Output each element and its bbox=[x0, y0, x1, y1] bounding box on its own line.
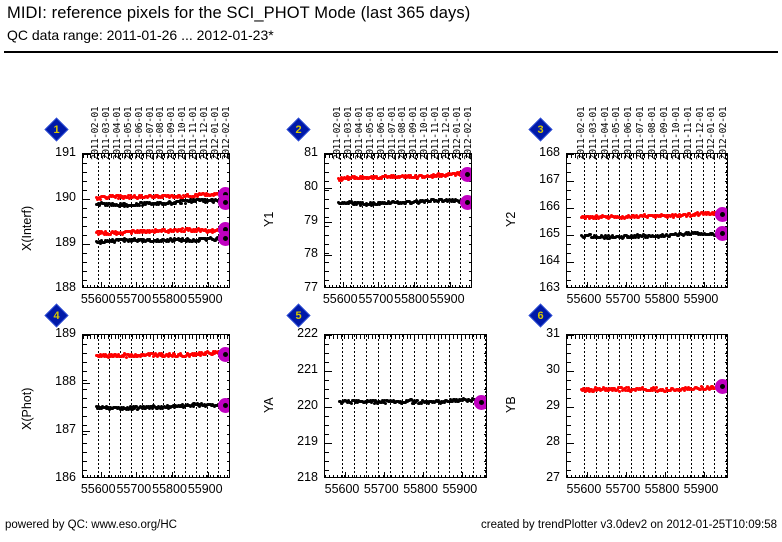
date-tick-label: 2011-08-01 bbox=[647, 107, 658, 160]
axis-tick-minor-y bbox=[725, 407, 728, 408]
axis-tick-minor bbox=[714, 285, 715, 288]
axis-tick-minor-y bbox=[484, 380, 487, 381]
axis-tick-minor bbox=[422, 335, 423, 339]
axis-tick-minor bbox=[164, 335, 165, 339]
x-axis-tick-label: 55900 bbox=[442, 482, 477, 496]
axis-tick-minor bbox=[357, 285, 358, 288]
axis-tick-minor-y bbox=[83, 190, 87, 191]
axis-tick-minor bbox=[199, 475, 200, 478]
axis-tick-minor bbox=[125, 335, 126, 339]
axis-tick-minor bbox=[111, 285, 112, 288]
axis-tick-minor-y bbox=[227, 380, 230, 381]
axis-tick-minor bbox=[434, 285, 435, 288]
axis-tick-minor-y bbox=[83, 398, 87, 399]
latest-point-core bbox=[720, 212, 725, 217]
axis-tick-minor bbox=[633, 285, 634, 288]
axis-tick-minor bbox=[344, 335, 345, 339]
y-axis-tick-label: 29 bbox=[518, 398, 560, 412]
panel-badge-2: 2 bbox=[288, 119, 309, 140]
y-axis-tick-major bbox=[567, 208, 574, 209]
axis-tick-minor bbox=[476, 335, 477, 339]
axis-tick-minor bbox=[690, 335, 691, 339]
date-tick-label: 2011-11-01 bbox=[188, 107, 199, 160]
date-tick-label: 2011-06-01 bbox=[623, 107, 634, 160]
axis-tick-minor bbox=[388, 285, 389, 288]
gridline-month bbox=[714, 154, 715, 288]
axis-tick-minor bbox=[671, 475, 672, 478]
axis-tick-minor bbox=[118, 285, 119, 288]
axis-tick-minor-y bbox=[725, 470, 728, 471]
axis-tick-minor bbox=[594, 335, 595, 339]
gridline-month bbox=[449, 335, 450, 478]
axis-tick-minor bbox=[725, 285, 726, 288]
axis-tick-minor bbox=[161, 285, 162, 288]
axis-tick-minor-y bbox=[725, 181, 728, 182]
axis-tick-minor bbox=[621, 285, 622, 288]
axis-tick-minor bbox=[337, 475, 338, 478]
x-axis-tick-label: 55800 bbox=[152, 292, 187, 306]
axis-tick-minor bbox=[579, 335, 580, 339]
axis-tick-minor-y bbox=[567, 416, 571, 417]
axis-tick-minor bbox=[706, 335, 707, 339]
date-tick-label: 2012-02-01 bbox=[221, 107, 232, 160]
axis-tick-minor bbox=[457, 335, 458, 339]
gridline-month bbox=[584, 154, 585, 288]
axis-tick-minor bbox=[164, 475, 165, 478]
gridline-month bbox=[373, 154, 374, 288]
axis-tick-minor-y bbox=[725, 416, 728, 417]
axis-tick-minor bbox=[606, 335, 607, 339]
axis-tick-minor bbox=[227, 475, 228, 478]
axis-tick-minor-y bbox=[567, 190, 571, 191]
axis-tick-minor-y bbox=[227, 416, 230, 417]
axis-tick-minor bbox=[97, 335, 98, 339]
latest-point-marker bbox=[218, 195, 230, 210]
y-axis-tick-label: 189 bbox=[34, 326, 76, 340]
y-axis-title: Y1 bbox=[262, 212, 276, 227]
axis-tick-minor bbox=[710, 475, 711, 478]
axis-tick-minor bbox=[472, 475, 473, 478]
axis-tick-minor bbox=[372, 335, 373, 339]
axis-tick-minor bbox=[582, 335, 583, 339]
axis-tick-minor-y bbox=[725, 280, 728, 281]
axis-tick-minor-y bbox=[83, 262, 87, 263]
axis-tick-minor bbox=[132, 285, 133, 288]
axis-tick-minor-y bbox=[325, 163, 329, 164]
axis-tick-minor-y bbox=[484, 425, 487, 426]
axis-tick-minor bbox=[462, 285, 463, 288]
axis-tick-minor-y bbox=[83, 344, 87, 345]
axis-tick-minor bbox=[410, 335, 411, 339]
axis-tick-minor bbox=[161, 475, 162, 478]
axis-tick-minor bbox=[227, 285, 228, 288]
axis-tick-minor-y bbox=[567, 280, 571, 281]
axis-tick-minor bbox=[717, 475, 718, 478]
axis-tick-minor-y bbox=[227, 217, 230, 218]
gridline-month bbox=[378, 335, 379, 478]
axis-tick-minor bbox=[168, 335, 169, 339]
axis-tick-minor-y bbox=[227, 425, 230, 426]
axis-tick-minor-y bbox=[567, 244, 571, 245]
axis-tick-minor-y bbox=[325, 353, 329, 354]
x-axis-tick-label: 55700 bbox=[358, 292, 393, 306]
axis-tick-minor bbox=[567, 285, 568, 288]
axis-tick-minor bbox=[671, 285, 672, 288]
axis-tick-minor bbox=[399, 335, 400, 339]
latest-point-marker bbox=[218, 231, 230, 246]
gridline-month bbox=[229, 154, 230, 288]
y-axis-tick-major bbox=[325, 222, 332, 223]
y-axis-tick-label: 165 bbox=[518, 226, 560, 240]
axis-tick-minor bbox=[391, 475, 392, 478]
latest-point-marker bbox=[715, 207, 728, 222]
axis-tick-minor-y bbox=[83, 389, 87, 390]
axis-tick-minor bbox=[629, 475, 630, 478]
x-axis-tick-major bbox=[136, 282, 137, 288]
axis-tick-minor bbox=[582, 475, 583, 478]
axis-tick-minor-y bbox=[325, 344, 329, 345]
axis-tick-minor bbox=[663, 285, 664, 288]
axis-tick-minor-y bbox=[325, 253, 329, 254]
gridline-month bbox=[98, 154, 99, 288]
axis-tick-minor bbox=[206, 285, 207, 288]
page-subtitle: QC data range: 2011-01-26 ... 2012-01-23… bbox=[7, 27, 274, 43]
axis-tick-minor bbox=[161, 335, 162, 339]
gridline-month bbox=[619, 154, 620, 288]
y-axis-tick-label: 79 bbox=[276, 213, 318, 227]
axis-tick-minor bbox=[189, 285, 190, 288]
panel-badge-number: 6 bbox=[530, 305, 551, 326]
gridline-month bbox=[185, 154, 186, 288]
gridline-month bbox=[390, 335, 391, 478]
axis-tick-minor bbox=[168, 285, 169, 288]
axis-tick-minor-y bbox=[325, 235, 329, 236]
x-axis-tick-major bbox=[587, 472, 588, 478]
y-axis-tick-major bbox=[567, 262, 574, 263]
axis-tick-minor bbox=[663, 335, 664, 339]
axis-tick-minor-y bbox=[484, 461, 487, 462]
y-axis-title: X(Phot) bbox=[20, 387, 34, 429]
axis-tick-minor bbox=[108, 475, 109, 478]
gridline-month bbox=[703, 335, 704, 478]
latest-point-core bbox=[223, 200, 228, 205]
axis-tick-minor bbox=[579, 285, 580, 288]
axis-tick-minor bbox=[395, 475, 396, 478]
axis-tick-minor bbox=[702, 335, 703, 339]
axis-tick-minor bbox=[332, 285, 333, 288]
axis-tick-minor bbox=[675, 475, 676, 478]
axis-tick-minor bbox=[157, 335, 158, 339]
axis-tick-minor bbox=[465, 475, 466, 478]
axis-tick-minor bbox=[132, 335, 133, 339]
axis-tick-minor-y bbox=[469, 163, 472, 164]
axis-tick-minor bbox=[694, 335, 695, 339]
axis-tick-minor bbox=[192, 335, 193, 339]
axis-tick-minor-y bbox=[325, 244, 329, 245]
axis-tick-minor-y bbox=[469, 253, 472, 254]
latest-point-core bbox=[223, 352, 228, 357]
axis-tick-minor bbox=[702, 475, 703, 478]
axis-tick-minor bbox=[598, 475, 599, 478]
latest-point-marker bbox=[218, 398, 230, 413]
x-axis-tick-label: 55900 bbox=[684, 292, 719, 306]
y-axis-tick-label: 164 bbox=[518, 253, 560, 267]
y-axis-tick-label: 168 bbox=[518, 145, 560, 159]
axis-tick-minor-y bbox=[567, 362, 571, 363]
axis-tick-minor bbox=[339, 285, 340, 288]
axis-tick-minor-y bbox=[484, 452, 487, 453]
axis-tick-minor bbox=[115, 335, 116, 339]
axis-tick-minor bbox=[426, 335, 427, 339]
gridline-month bbox=[109, 154, 110, 288]
gridline-month bbox=[402, 335, 403, 478]
axis-tick-minor bbox=[217, 335, 218, 339]
axis-tick-minor bbox=[399, 285, 400, 288]
axis-tick-minor-y bbox=[325, 280, 329, 281]
date-tick-label: 2011-02-01 bbox=[576, 107, 587, 160]
axis-tick-minor bbox=[337, 335, 338, 339]
axis-tick-minor-y bbox=[83, 226, 87, 227]
axis-tick-minor-y bbox=[725, 271, 728, 272]
axis-tick-minor bbox=[360, 335, 361, 339]
axis-tick-minor-y bbox=[325, 398, 329, 399]
axis-tick-minor-y bbox=[227, 434, 230, 435]
date-tick-label: 2011-12-01 bbox=[441, 107, 452, 160]
date-tick-label: 2012-02-01 bbox=[718, 107, 729, 160]
axis-tick-minor-y bbox=[83, 443, 87, 444]
axis-tick-minor bbox=[374, 285, 375, 288]
axis-tick-minor bbox=[469, 285, 470, 288]
axis-tick-minor bbox=[392, 285, 393, 288]
axis-tick-minor bbox=[224, 285, 225, 288]
axis-tick-minor bbox=[146, 335, 147, 339]
axis-tick-minor bbox=[139, 285, 140, 288]
axis-tick-minor-y bbox=[484, 470, 487, 471]
axis-tick-minor-y bbox=[484, 362, 487, 363]
y-axis-tick-label: 218 bbox=[276, 470, 318, 484]
axis-tick-minor bbox=[196, 335, 197, 339]
panel-badge-6: 6 bbox=[530, 305, 551, 326]
axis-tick-minor bbox=[567, 475, 568, 478]
axis-tick-minor bbox=[329, 475, 330, 478]
axis-tick-minor bbox=[449, 335, 450, 339]
axis-tick-minor bbox=[434, 475, 435, 478]
y-axis-tick-label: 190 bbox=[34, 190, 76, 204]
axis-tick-minor-y bbox=[325, 416, 329, 417]
axis-tick-minor-y bbox=[725, 344, 728, 345]
axis-tick-minor bbox=[410, 475, 411, 478]
x-axis-tick-major bbox=[101, 472, 102, 478]
date-tick-label: 2011-11-01 bbox=[683, 107, 694, 160]
axis-tick-minor-y bbox=[83, 181, 87, 182]
axis-tick-minor bbox=[403, 285, 404, 288]
x-axis-tick-label: 55600 bbox=[325, 482, 360, 496]
axis-tick-minor bbox=[122, 475, 123, 478]
plot-panel-4 bbox=[82, 334, 230, 478]
axis-tick-minor-y bbox=[469, 217, 472, 218]
axis-tick-minor-y bbox=[83, 461, 87, 462]
axis-tick-minor-y bbox=[83, 280, 87, 281]
axis-tick-minor bbox=[129, 335, 130, 339]
axis-tick-minor bbox=[111, 475, 112, 478]
axis-tick-minor bbox=[636, 335, 637, 339]
latest-point-marker bbox=[474, 395, 487, 410]
axis-tick-minor-y bbox=[83, 271, 87, 272]
axis-tick-minor bbox=[379, 475, 380, 478]
date-tick-label: 2011-05-01 bbox=[123, 107, 134, 160]
plot-panel-2 bbox=[324, 153, 472, 288]
gridline-month bbox=[667, 335, 668, 478]
axis-tick-minor bbox=[391, 335, 392, 339]
axis-tick-minor bbox=[210, 285, 211, 288]
gridline-month bbox=[691, 335, 692, 478]
axis-tick-minor bbox=[445, 285, 446, 288]
header-divider bbox=[4, 51, 778, 53]
axis-tick-minor bbox=[175, 285, 176, 288]
gridline-month bbox=[174, 154, 175, 288]
axis-tick-minor bbox=[182, 475, 183, 478]
axis-tick-minor-y bbox=[227, 181, 230, 182]
gridline-month bbox=[608, 154, 609, 288]
axis-tick-minor bbox=[721, 475, 722, 478]
axis-tick-minor-y bbox=[567, 344, 571, 345]
axis-tick-minor-y bbox=[567, 452, 571, 453]
axis-tick-minor-y bbox=[83, 416, 87, 417]
axis-tick-minor bbox=[90, 285, 91, 288]
axis-tick-minor bbox=[203, 285, 204, 288]
gridline-month bbox=[619, 335, 620, 478]
date-tick-label: 2011-08-01 bbox=[397, 107, 408, 160]
axis-tick-minor-y bbox=[83, 217, 87, 218]
axis-tick-minor bbox=[414, 335, 415, 339]
axis-tick-minor-y bbox=[725, 163, 728, 164]
axis-tick-minor bbox=[633, 475, 634, 478]
gridline-month bbox=[643, 154, 644, 288]
axis-tick-minor bbox=[457, 475, 458, 478]
axis-tick-minor-y bbox=[227, 470, 230, 471]
x-axis-tick-label: 55600 bbox=[567, 292, 602, 306]
axis-tick-minor-y bbox=[567, 172, 571, 173]
axis-tick-minor bbox=[679, 285, 680, 288]
axis-tick-minor-y bbox=[83, 452, 87, 453]
axis-tick-minor bbox=[217, 475, 218, 478]
gridline-month bbox=[354, 335, 355, 478]
axis-tick-minor bbox=[683, 335, 684, 339]
axis-tick-minor-y bbox=[325, 226, 329, 227]
y-axis-tick-major bbox=[83, 431, 90, 432]
axis-tick-minor-y bbox=[227, 335, 230, 336]
axis-tick-minor-y bbox=[227, 262, 230, 263]
gridline-month bbox=[584, 335, 585, 478]
axis-tick-minor-y bbox=[484, 371, 487, 372]
y-axis-tick-label: 31 bbox=[518, 326, 560, 340]
plot-panel-5 bbox=[324, 334, 487, 478]
axis-tick-minor bbox=[602, 335, 603, 339]
gridline-month bbox=[667, 154, 668, 288]
axis-tick-minor bbox=[341, 335, 342, 339]
x-axis-tick-major bbox=[208, 282, 209, 288]
axis-tick-minor bbox=[687, 475, 688, 478]
axis-tick-minor bbox=[203, 335, 204, 339]
axis-tick-minor bbox=[586, 335, 587, 339]
axis-tick-minor bbox=[667, 475, 668, 478]
y-axis-tick-major bbox=[567, 371, 574, 372]
axis-tick-minor-y bbox=[469, 262, 472, 263]
axis-tick-minor-y bbox=[567, 470, 571, 471]
axis-tick-minor bbox=[438, 335, 439, 339]
x-axis-tick-label: 55800 bbox=[394, 292, 429, 306]
page-title: MIDI: reference pixels for the SCI_PHOT … bbox=[7, 4, 470, 23]
axis-tick-minor bbox=[453, 475, 454, 478]
y-axis-tick-label: 189 bbox=[34, 235, 76, 249]
x-axis-tick-label: 55800 bbox=[403, 482, 438, 496]
axis-tick-minor-y bbox=[725, 362, 728, 363]
axis-tick-minor bbox=[617, 475, 618, 478]
axis-tick-minor bbox=[465, 335, 466, 339]
axis-tick-minor bbox=[143, 335, 144, 339]
axis-tick-minor bbox=[448, 285, 449, 288]
axis-tick-minor bbox=[613, 285, 614, 288]
axis-tick-minor bbox=[667, 285, 668, 288]
axis-tick-minor bbox=[185, 335, 186, 339]
axis-tick-minor-y bbox=[484, 344, 487, 345]
axis-tick-minor bbox=[132, 475, 133, 478]
axis-tick-minor bbox=[90, 335, 91, 339]
latest-point-core bbox=[479, 400, 484, 405]
axis-tick-minor bbox=[403, 475, 404, 478]
axis-tick-minor bbox=[582, 285, 583, 288]
axis-tick-minor-y bbox=[325, 190, 329, 191]
x-axis-tick-major bbox=[384, 472, 385, 478]
axis-tick-minor bbox=[690, 285, 691, 288]
axis-tick-minor bbox=[189, 335, 190, 339]
axis-tick-minor-y bbox=[567, 398, 571, 399]
axis-tick-minor-y bbox=[325, 461, 329, 462]
axis-tick-minor bbox=[350, 285, 351, 288]
y-axis-tick-major bbox=[325, 255, 332, 256]
axis-tick-minor bbox=[598, 285, 599, 288]
axis-tick-minor bbox=[636, 285, 637, 288]
y-axis-tick-label: 220 bbox=[276, 398, 318, 412]
axis-tick-minor-y bbox=[83, 371, 87, 372]
axis-tick-minor bbox=[710, 335, 711, 339]
x-axis-tick-major bbox=[450, 282, 451, 288]
date-tick-label: 2011-03-01 bbox=[588, 107, 599, 160]
axis-tick-minor-y bbox=[725, 262, 728, 263]
axis-tick-minor-y bbox=[325, 389, 329, 390]
axis-tick-minor-y bbox=[567, 434, 571, 435]
date-tick-label: 2011-03-01 bbox=[343, 107, 354, 160]
x-axis-tick-label: 55700 bbox=[116, 482, 151, 496]
axis-tick-minor bbox=[687, 335, 688, 339]
axis-tick-minor bbox=[333, 475, 334, 478]
axis-tick-minor bbox=[146, 475, 147, 478]
axis-tick-minor bbox=[648, 285, 649, 288]
gridline-month bbox=[120, 154, 121, 288]
axis-tick-minor bbox=[153, 335, 154, 339]
axis-tick-minor-y bbox=[227, 172, 230, 173]
axis-tick-minor-y bbox=[469, 280, 472, 281]
axis-tick-minor bbox=[372, 475, 373, 478]
axis-tick-minor bbox=[353, 285, 354, 288]
axis-tick-minor bbox=[97, 475, 98, 478]
axis-tick-minor bbox=[417, 285, 418, 288]
axis-tick-minor bbox=[602, 475, 603, 478]
axis-tick-minor-y bbox=[567, 353, 571, 354]
axis-tick-minor bbox=[644, 475, 645, 478]
axis-tick-minor bbox=[213, 335, 214, 339]
axis-tick-minor bbox=[453, 335, 454, 339]
